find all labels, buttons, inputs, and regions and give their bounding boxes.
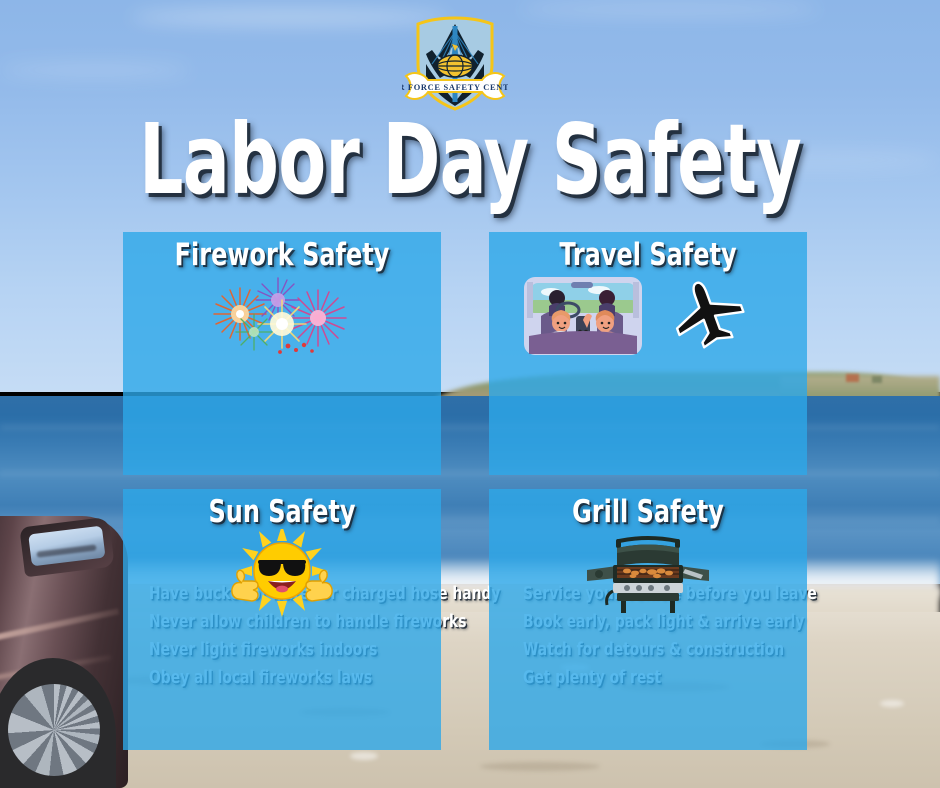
cloud [520, 2, 820, 16]
grill-art [489, 531, 807, 615]
panel-travel-safety: Travel Safety [489, 232, 807, 475]
gas-grill-icon [573, 531, 723, 615]
travel-art [489, 274, 807, 358]
logo-banner-text: AIR FORCE SAFETY CENTER [402, 83, 508, 92]
parked-car [0, 470, 136, 788]
fireworks-icon [192, 274, 372, 360]
distant-building [846, 374, 859, 382]
firework-art [123, 274, 441, 358]
panel-title-sun: Sun Safety [145, 495, 418, 529]
sun-with-sunglasses-icon [202, 529, 362, 619]
page-title: Labor Day Safety [94, 108, 846, 212]
panel-title-firework: Firework Safety [145, 238, 418, 272]
panel-title-grill: Grill Safety [511, 495, 784, 529]
sun-art [123, 531, 441, 615]
air-force-safety-center-logo: AIR FORCE SAFETY CENTER [402, 12, 508, 114]
mirror-glass [28, 526, 105, 567]
panel-title-travel: Travel Safety [511, 238, 784, 272]
panel-firework-safety: Firework Safety [123, 232, 441, 475]
cloud [0, 62, 190, 78]
airplane-icon [669, 278, 747, 350]
labor-day-safety-poster: AIR FORCE SAFETY CENTER Labor Day Safety… [0, 0, 940, 788]
car-interior-icon [523, 276, 643, 356]
panel-grill-safety: Grill Safety [489, 489, 807, 750]
distant-building [872, 376, 882, 383]
panel-sun-safety: Sun Safety [123, 489, 441, 750]
shield-emblem-icon: AIR FORCE SAFETY CENTER [402, 12, 508, 114]
